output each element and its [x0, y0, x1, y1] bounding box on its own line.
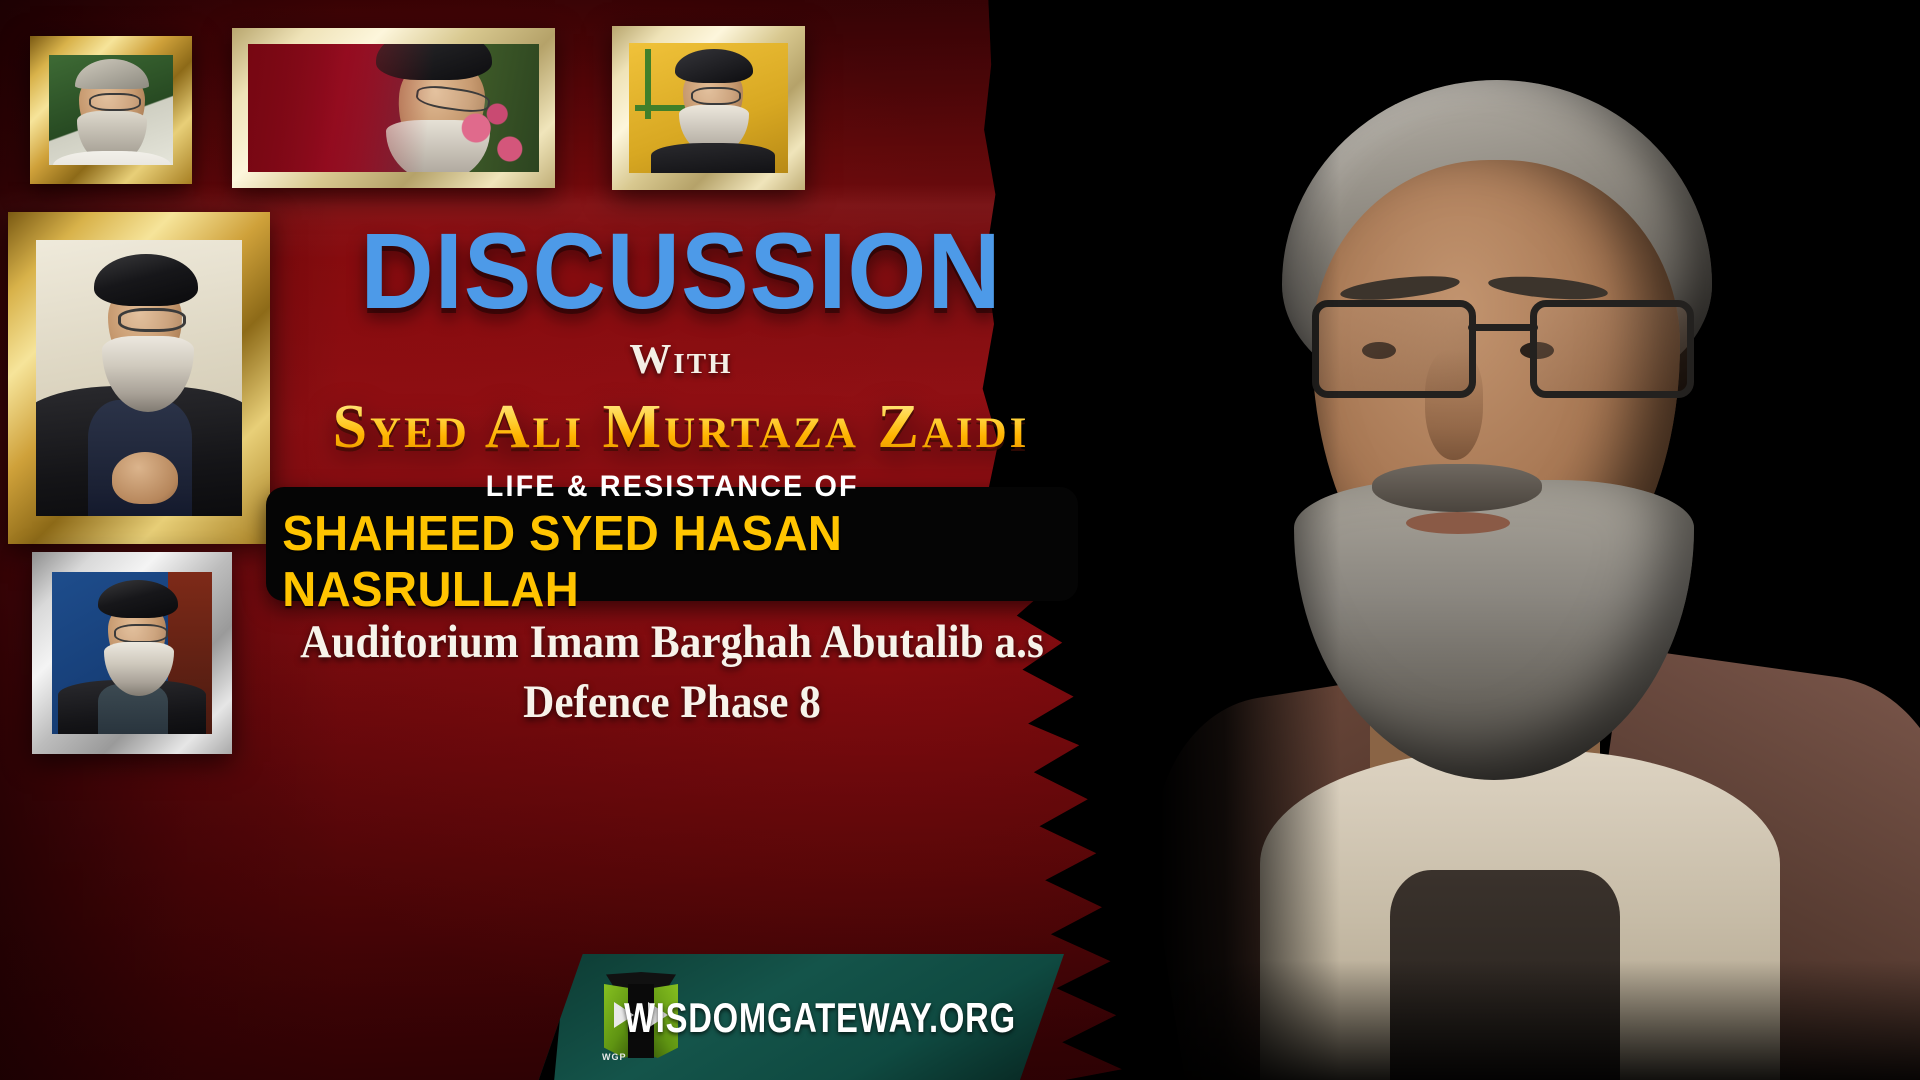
glasses-lens-right	[1530, 300, 1694, 398]
frame-top-left-photo	[49, 55, 173, 165]
frame-top-right	[612, 26, 805, 190]
subtitle-main-line: SHAHEED SYED HASAN NASRULLAH	[282, 506, 1062, 618]
speaker-bottom-fade	[1160, 960, 1920, 1080]
portrait-hand-on-heart	[36, 240, 242, 516]
frame-left-small-photo	[52, 572, 212, 734]
photo-glasses	[89, 93, 141, 111]
speaker-photo	[1160, 0, 1920, 1080]
photo-glasses	[691, 87, 741, 105]
poster-canvas: DISCUSSION With Syed Ali Murtaza Zaidi L…	[0, 0, 1920, 1080]
portrait-profile-flowers	[248, 44, 539, 172]
photo-glasses	[118, 308, 186, 332]
subtitle-bar: LIFE & RESISTANCE OF SHAHEED SYED HASAN …	[266, 487, 1078, 601]
photo-robe	[651, 143, 775, 173]
portrait-blue-background	[52, 572, 212, 734]
website-url: WISDOMGATEWAY.ORG	[624, 994, 1016, 1042]
venue-line-1: Auditorium Imam Barghah Abutalib a.s	[298, 612, 1045, 672]
photo-hand	[112, 452, 178, 504]
glasses-bridge	[1468, 324, 1538, 331]
speaker-glasses	[1306, 294, 1692, 390]
frame-top-right-photo	[629, 43, 788, 173]
footer-logo-plate: WGP WISDOMGATEWAY.ORG	[538, 954, 1064, 1080]
speaker-left-fade	[1160, 0, 1340, 1080]
main-title: DISCUSSION	[293, 216, 1069, 326]
photo-overlay	[248, 44, 539, 172]
portrait-yellow-banner	[629, 43, 788, 173]
portrait-smiling-man	[49, 55, 173, 165]
speaker-name: Syed Ali Murtaza Zaidi	[268, 392, 1094, 463]
venue-block: Auditorium Imam Barghah Abutalib a.s Def…	[298, 612, 1045, 732]
speaker-lips	[1406, 512, 1510, 534]
photo-glasses	[114, 624, 168, 643]
frame-top-center	[232, 28, 555, 188]
title-block: DISCUSSION With Syed Ali Murtaza Zaidi	[268, 216, 1094, 463]
with-label: With	[268, 336, 1094, 384]
speaker-moustache	[1372, 464, 1542, 512]
frame-top-left	[30, 36, 192, 184]
frame-top-center-photo	[248, 44, 539, 172]
venue-line-2: Defence Phase 8	[298, 672, 1045, 732]
frame-left-small	[32, 552, 232, 754]
frame-left-large	[8, 212, 270, 544]
subtitle-top-line: LIFE & RESISTANCE OF	[486, 470, 859, 504]
frame-left-large-photo	[36, 240, 242, 516]
